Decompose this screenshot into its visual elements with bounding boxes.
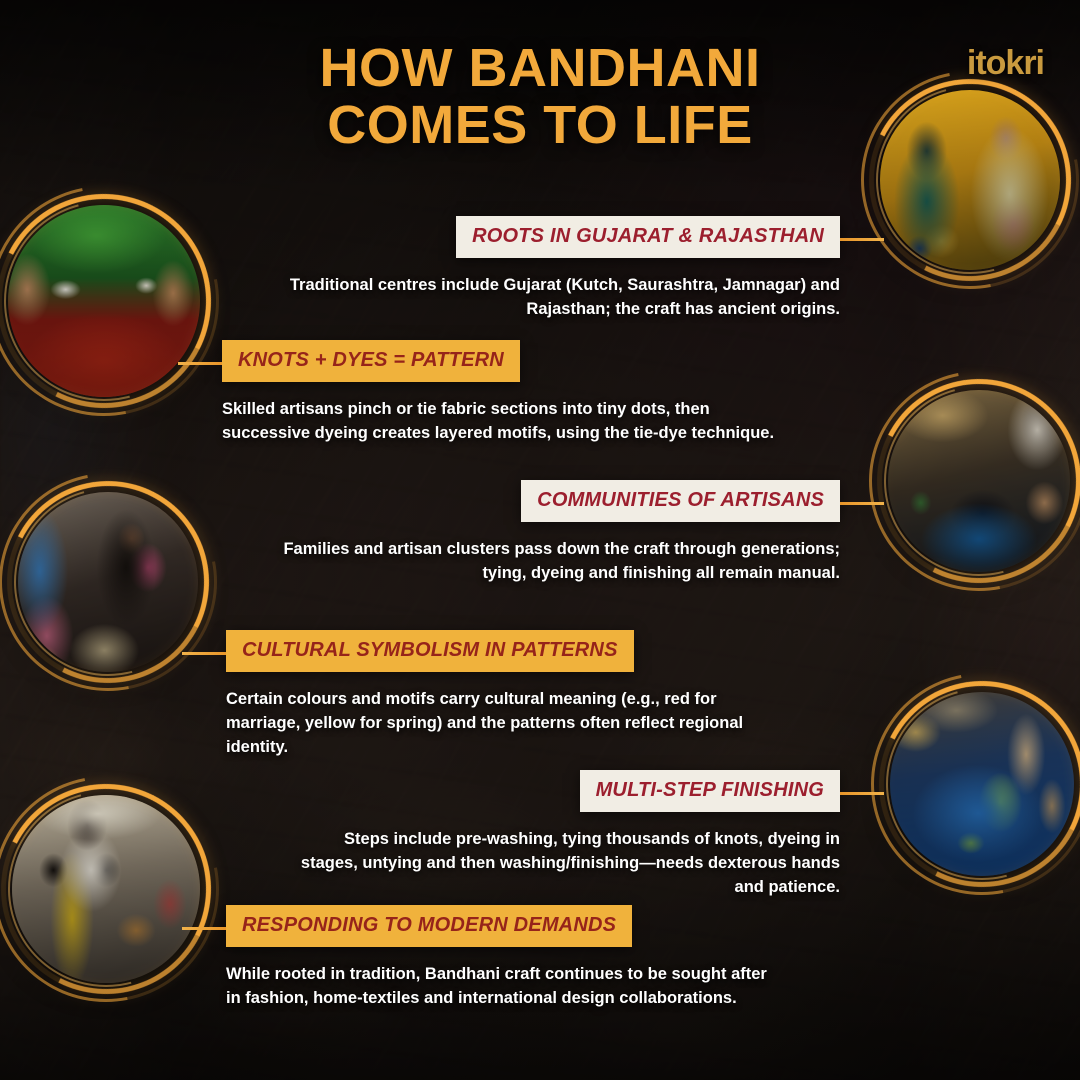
section-modern-demands-connector [182,927,226,930]
photo-dye-vat-blue-green [890,692,1074,876]
section-knots-dyes: KNOTS + DYES = PATTERN Skilled artisans … [222,340,782,446]
section-symbolism-connector [182,652,226,655]
section-symbolism-body: Certain colours and motifs carry cultura… [226,688,786,760]
section-symbolism-badge[interactable]: CULTURAL SYMBOLISM IN PATTERNS [226,630,634,672]
section-modern-demands-body: While rooted in tradition, Bandhani craf… [226,963,786,1011]
itokri-logo[interactable]: itokri [967,44,1044,83]
title-line-1: HOW BANDHANI [320,38,761,98]
section-finishing-badge[interactable]: MULTI-STEP FINISHING [580,770,840,812]
section-knots-dyes-badge[interactable]: KNOTS + DYES = PATTERN [222,340,520,382]
section-roots-body: Traditional centres include Gujarat (Kut… [246,274,840,322]
section-finishing-connector [840,792,884,795]
section-symbolism: CULTURAL SYMBOLISM IN PATTERNS Certain c… [226,630,786,760]
section-knots-dyes-connector [178,362,222,365]
page-title: HOW BANDHANI COMES TO LIFE [0,40,1080,154]
title-line-2: COMES TO LIFE [0,97,1080,154]
section-modern-demands-badge[interactable]: RESPONDING TO MODERN DEMANDS [226,905,632,947]
section-communities: COMMUNITIES OF ARTISANS Families and art… [248,480,840,586]
photo-yellow-dyed-fabric [12,795,200,983]
section-roots: ROOTS IN GUJARAT & RAJASTHAN Traditional… [246,216,840,322]
section-communities-badge[interactable]: COMMUNITIES OF ARTISANS [521,480,840,522]
section-modern-demands: RESPONDING TO MODERN DEMANDS While roote… [226,905,786,1011]
section-knots-dyes-body: Skilled artisans pinch or tie fabric sec… [222,398,782,446]
section-communities-connector [840,502,884,505]
section-communities-body: Families and artisan clusters pass down … [248,538,840,586]
section-finishing-body: Steps include pre-washing, tying thousan… [300,828,840,900]
photo-dyer-blue-tub [888,390,1070,572]
infographic-canvas: HOW BANDHANI COMES TO LIFE itokri [0,0,1080,1080]
photo-women-artisan-cluster [18,492,198,672]
photo-hands-tying-red-fabric [8,205,200,397]
section-finishing: MULTI-STEP FINISHING Steps include pre-w… [300,770,840,900]
section-roots-badge[interactable]: ROOTS IN GUJARAT & RAJASTHAN [456,216,840,258]
section-roots-connector [840,238,884,241]
